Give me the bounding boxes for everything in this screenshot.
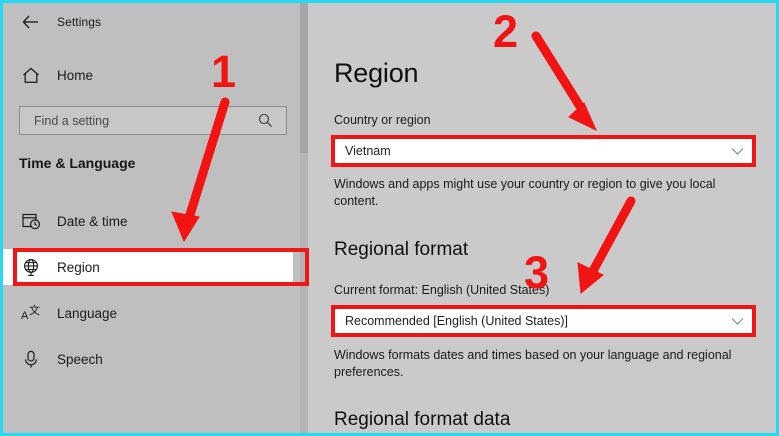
sidebar-item-speech-label: Speech: [57, 352, 103, 367]
sidebar-item-date-time[interactable]: Date & time: [3, 203, 293, 239]
main-content: Region Country or region Vietnam Windows…: [311, 3, 776, 433]
sidebar-item-region[interactable]: Region: [3, 249, 293, 285]
sidebar-item-language[interactable]: A 文 Language: [3, 295, 293, 331]
page-title: Region: [334, 58, 418, 89]
regional-format-data-heading: Regional format data: [334, 409, 510, 431]
sidebar-item-language-label: Language: [57, 306, 117, 321]
chevron-down-icon: [731, 147, 744, 156]
country-or-region-dropdown[interactable]: Vietnam: [333, 138, 755, 164]
titlebar: Settings: [3, 9, 305, 35]
search-input[interactable]: [32, 113, 251, 129]
svg-text:文: 文: [29, 304, 40, 317]
country-or-region-value: Vietnam: [345, 144, 391, 158]
regional-format-dropdown[interactable]: Recommended [English (United States)]: [333, 308, 755, 334]
regional-format-description: Windows formats dates and times based on…: [334, 347, 762, 381]
sidebar-item-home-label: Home: [57, 68, 93, 83]
app-title: Settings: [57, 15, 101, 29]
sidebar-scrollbar-thumb[interactable]: [300, 3, 308, 153]
sidebar-item-date-time-label: Date & time: [57, 214, 128, 229]
microphone-icon: [20, 350, 42, 369]
country-or-region-label: Country or region: [334, 113, 431, 127]
settings-window: Settings Home Time & Language: [0, 0, 779, 436]
regional-format-heading: Regional format: [334, 239, 468, 261]
sidebar-item-region-label: Region: [57, 260, 100, 275]
current-format-label: Current format: English (United States): [334, 283, 549, 297]
chevron-down-icon: [731, 317, 744, 326]
back-arrow-icon: [22, 15, 39, 29]
regional-format-value: Recommended [English (United States)]: [345, 314, 568, 328]
sidebar: Settings Home Time & Language: [3, 3, 305, 433]
svg-text:A: A: [21, 310, 29, 322]
sidebar-item-home[interactable]: Home: [3, 61, 293, 89]
calendar-clock-icon: [20, 212, 42, 230]
language-icon: A 文: [20, 304, 42, 322]
country-description: Windows and apps might use your country …: [334, 176, 762, 210]
sidebar-item-speech[interactable]: Speech: [3, 341, 293, 377]
sidebar-section-title: Time & Language: [19, 155, 135, 171]
back-button[interactable]: [15, 10, 45, 34]
search-box[interactable]: [19, 106, 287, 135]
home-icon: [20, 67, 42, 84]
search-icon: [251, 113, 279, 128]
globe-icon: [20, 258, 42, 277]
